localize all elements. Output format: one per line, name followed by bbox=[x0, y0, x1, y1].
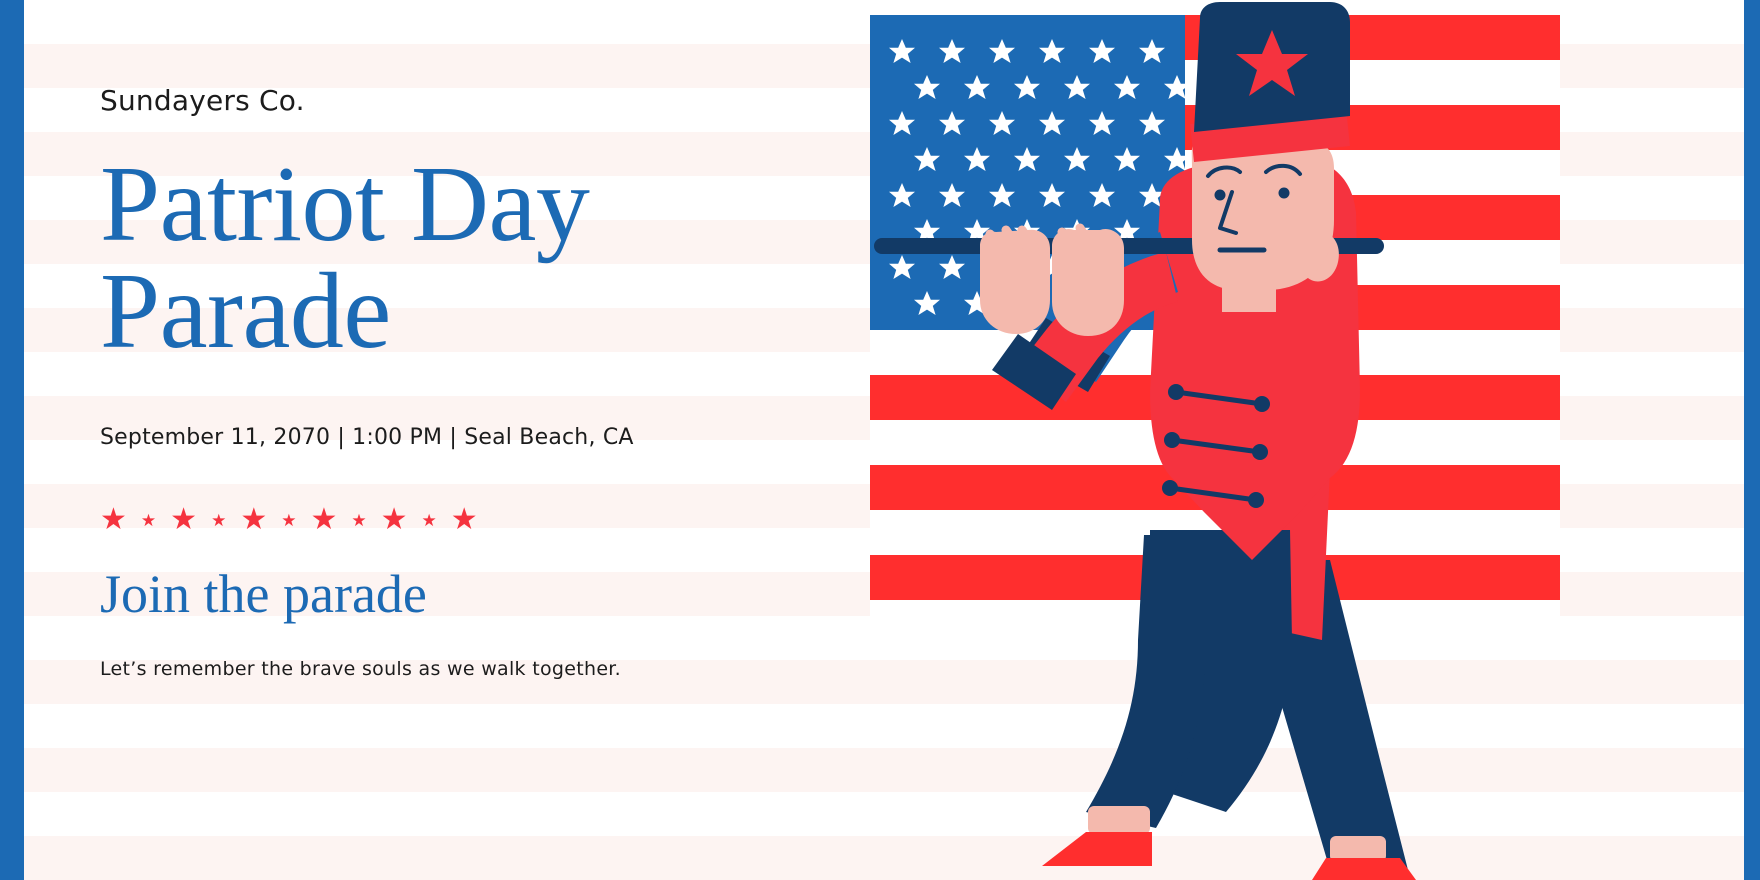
star-icon: ★ bbox=[451, 505, 478, 535]
figure-neck bbox=[1222, 276, 1276, 312]
star-icon: ★ bbox=[422, 512, 437, 529]
figure-head bbox=[1192, 142, 1334, 290]
event-datetime-location: September 11, 2070 | 1:00 PM | Seal Beac… bbox=[100, 425, 634, 450]
text-column: Sundayers Co. Patriot Day Parade Septemb… bbox=[100, 0, 840, 880]
figure-front-shoe bbox=[1042, 832, 1152, 866]
headline-line-2: Parade bbox=[100, 259, 840, 366]
headline-line-1: Patriot Day bbox=[100, 152, 840, 259]
star-icon: ★ bbox=[141, 512, 156, 529]
poster-canvas: Sundayers Co. Patriot Day Parade Septemb… bbox=[0, 0, 1760, 880]
page-title: Patriot Day Parade bbox=[100, 152, 840, 366]
star-icon: ★ bbox=[351, 512, 366, 529]
star-icon: ★ bbox=[381, 505, 408, 535]
star-icon: ★ bbox=[240, 505, 267, 535]
star-icon: ★ bbox=[211, 512, 226, 529]
left-blue-edge-bar bbox=[0, 0, 24, 880]
figure-back-shoe bbox=[1312, 858, 1416, 880]
flag-and-flutist-illustration bbox=[860, 0, 1760, 880]
cta-heading: Join the parade bbox=[100, 565, 427, 624]
figure-front-ankle bbox=[1088, 806, 1150, 834]
star-icon: ★ bbox=[310, 505, 337, 535]
star-divider: ★ ★ ★ ★ ★ ★ ★ ★ ★ ★ ★ bbox=[100, 500, 478, 540]
illustration-panel bbox=[860, 0, 1760, 880]
star-icon: ★ bbox=[281, 512, 296, 529]
tagline-text: Let’s remember the brave souls as we wal… bbox=[100, 658, 621, 680]
star-icon: ★ bbox=[100, 505, 127, 535]
star-icon: ★ bbox=[170, 505, 197, 535]
brand-name: Sundayers Co. bbox=[100, 84, 305, 117]
